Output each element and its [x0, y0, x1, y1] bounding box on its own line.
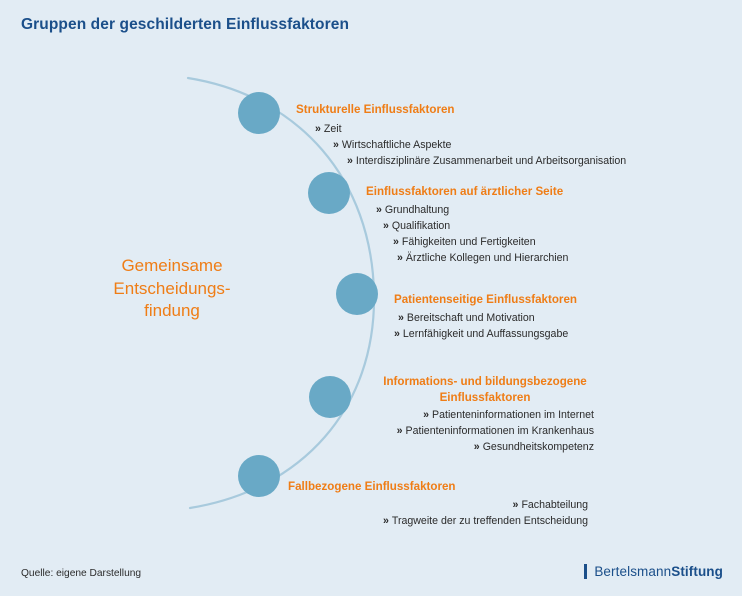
center-label: Gemeinsame Entscheidungs- findung: [72, 255, 272, 323]
list-item: »Patienteninformationen im Krankenhaus: [366, 423, 594, 439]
bullet-chevron-icon: »: [397, 252, 403, 264]
list-item: »Grundhaltung: [366, 202, 696, 218]
list-item-label: Zeit: [324, 123, 342, 135]
list-item-label: Grundhaltung: [385, 204, 449, 216]
group-bullet-list: »Fachabteilung »Tragweite der zu treffen…: [288, 497, 588, 529]
list-item-label: Fachabteilung: [521, 499, 588, 511]
logo-word-stiftung: Stiftung: [671, 564, 723, 579]
group-bullet-list: »Bereitschaft und Motivation »Lernfähigk…: [394, 310, 704, 342]
group-heading: Strukturelle Einflussfaktoren: [296, 102, 696, 118]
factor-group-strukturelle: Strukturelle Einflussfaktoren »Zeit »Wir…: [296, 102, 696, 169]
factor-group-patientenseitige: Patientenseitige Einflussfaktoren »Berei…: [394, 292, 704, 342]
list-item-label: Fähigkeiten und Fertigkeiten: [402, 236, 536, 248]
list-item: »Bereitschaft und Motivation: [394, 310, 704, 326]
source-note: Quelle: eigene Darstellung: [21, 568, 141, 579]
group-bullet-list: »Zeit »Wirtschaftliche Aspekte »Interdis…: [296, 121, 696, 169]
list-item-label: Interdisziplinäre Zusammenarbeit und Arb…: [356, 155, 626, 167]
list-item-label: Gesundheitskompetenz: [483, 441, 594, 453]
group-heading: Informations- und bildungsbezogene Einfl…: [376, 374, 594, 405]
list-item: »Ärztliche Kollegen und Hierarchien: [366, 250, 696, 266]
list-item: »Fachabteilung: [280, 497, 588, 513]
list-item: »Wirtschaftliche Aspekte: [296, 137, 696, 153]
list-item-label: Ärztliche Kollegen und Hierarchien: [406, 252, 569, 264]
bullet-chevron-icon: »: [383, 220, 389, 232]
bullet-chevron-icon: »: [376, 204, 382, 216]
logo-bar-icon: [584, 564, 587, 579]
list-item-label: Patienteninformationen im Internet: [432, 409, 594, 421]
bullet-chevron-icon: »: [333, 139, 339, 151]
factor-group-aerztliche-seite: Einflussfaktoren auf ärztlicher Seite »G…: [366, 184, 696, 266]
node-circle-4: [238, 455, 280, 497]
bullet-chevron-icon: »: [347, 155, 353, 167]
bertelsmann-stiftung-logo: BertelsmannStiftung: [584, 564, 723, 579]
diagram-canvas: Gruppen der geschilderten Einflussfaktor…: [0, 0, 742, 596]
bullet-chevron-icon: »: [423, 409, 429, 421]
group-bullet-list: »Patienteninformationen im Internet »Pat…: [376, 407, 594, 455]
center-label-line-2: Entscheidungs-: [72, 278, 272, 301]
factor-group-fallbezogene: Fallbezogene Einflussfaktoren »Fachabtei…: [288, 479, 588, 529]
bullet-chevron-icon: »: [397, 425, 403, 437]
logo-word-bertelsmann: Bertelsmann: [594, 564, 671, 579]
node-circle-1: [308, 172, 350, 214]
group-heading: Einflussfaktoren auf ärztlicher Seite: [366, 184, 696, 200]
group-bullet-list: »Grundhaltung »Qualifikation »Fähigkeite…: [366, 202, 696, 266]
list-item: »Zeit: [296, 121, 696, 137]
bullet-chevron-icon: »: [398, 312, 404, 324]
list-item: »Interdisziplinäre Zusammenarbeit und Ar…: [296, 153, 696, 169]
bullet-chevron-icon: »: [513, 499, 519, 511]
bullet-chevron-icon: »: [383, 515, 389, 527]
list-item-label: Patienteninformationen im Krankenhaus: [406, 425, 594, 437]
node-circle-3: [309, 376, 351, 418]
bullet-chevron-icon: »: [474, 441, 480, 453]
center-label-line-1: Gemeinsame: [72, 255, 272, 278]
group-heading: Fallbezogene Einflussfaktoren: [288, 479, 588, 495]
list-item: »Gesundheitskompetenz: [351, 439, 594, 455]
list-item: »Qualifikation: [366, 218, 696, 234]
group-heading: Patientenseitige Einflussfaktoren: [394, 292, 704, 308]
bullet-chevron-icon: »: [315, 123, 321, 135]
list-item-label: Tragweite der zu treffenden Entscheidung: [392, 515, 588, 527]
list-item-label: Bereitschaft und Motivation: [407, 312, 535, 324]
bullet-chevron-icon: »: [394, 328, 400, 340]
list-item: »Fähigkeiten und Fertigkeiten: [366, 234, 696, 250]
bullet-chevron-icon: »: [393, 236, 399, 248]
list-item-label: Lernfähigkeit und Auffassungsgabe: [403, 328, 568, 340]
list-item: »Lernfähigkeit und Auffassungsgabe: [394, 326, 704, 342]
node-circle-2: [336, 273, 378, 315]
list-item-label: Qualifikation: [392, 220, 450, 232]
center-label-line-3: findung: [72, 300, 272, 323]
list-item: »Tragweite der zu treffenden Entscheidun…: [252, 513, 588, 529]
node-circle-0: [238, 92, 280, 134]
factor-group-informations-bildungsbezogene: Informations- und bildungsbezogene Einfl…: [376, 374, 594, 456]
list-item: »Patienteninformationen im Internet: [376, 407, 594, 423]
list-item-label: Wirtschaftliche Aspekte: [342, 139, 452, 151]
